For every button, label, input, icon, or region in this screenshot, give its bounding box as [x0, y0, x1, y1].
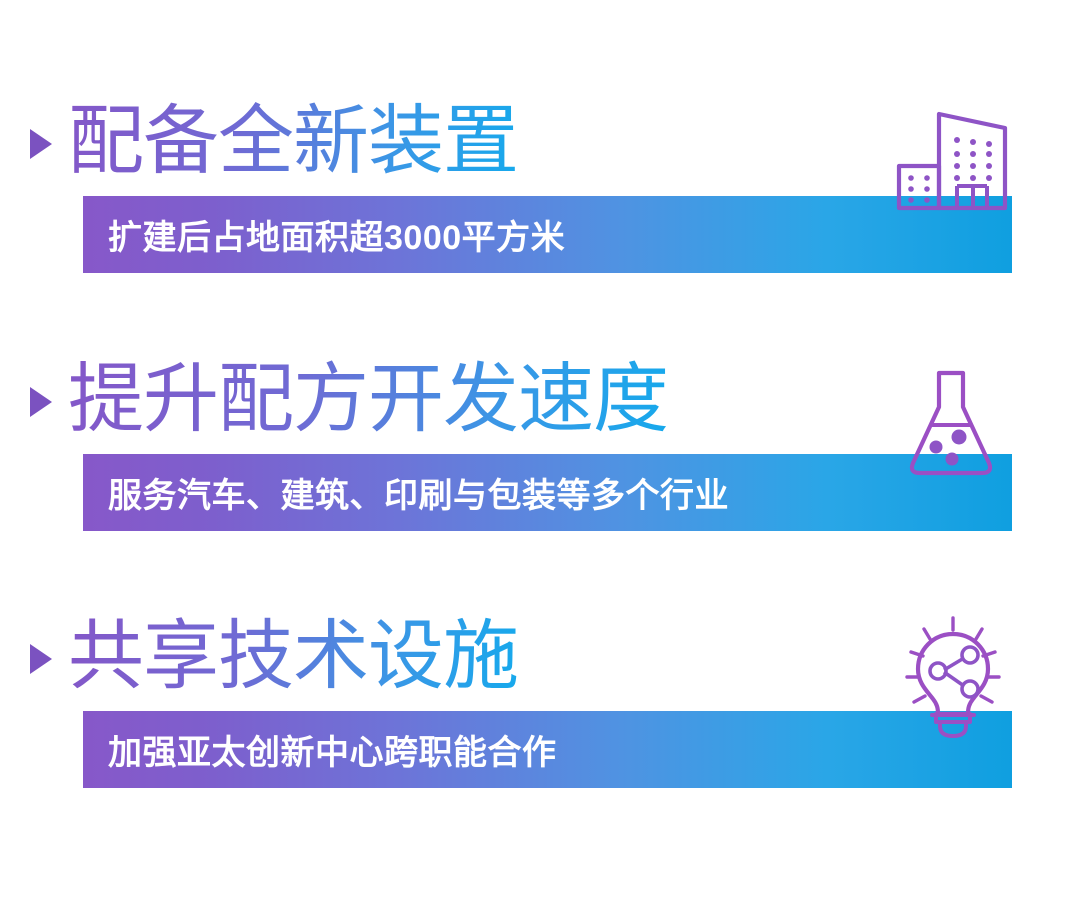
section-3-heading-row: 共享技术设施 [0, 603, 1080, 711]
section-3-heading: 共享技术设施 [68, 607, 518, 707]
section-2-bar: 服务汽车、建筑、印刷与包装等多个行业 [83, 454, 1012, 531]
infographic-slide: 配备全新装置 扩建后占地面积超3000平方米 提升配方开发速度 服务汽车、建筑、… [0, 0, 1080, 909]
section-3-bar: 加强亚太创新中心跨职能合作 [83, 711, 1012, 788]
triangle-right-icon [30, 129, 52, 159]
section-2-heading-row: 提升配方开发速度 [0, 346, 1080, 454]
section-3: 共享技术设施 加强亚太创新中心跨职能合作 [0, 603, 1080, 711]
section-1-bar: 扩建后占地面积超3000平方米 [83, 196, 1012, 273]
section-2: 提升配方开发速度 服务汽车、建筑、印刷与包装等多个行业 [0, 346, 1080, 454]
section-1-heading-row: 配备全新装置 [0, 88, 1080, 196]
triangle-right-icon [30, 387, 52, 417]
section-1-heading: 配备全新装置 [68, 92, 518, 192]
section-2-heading: 提升配方开发速度 [68, 350, 668, 450]
section-1-bar-label: 扩建后占地面积超3000平方米 [108, 196, 565, 273]
section-3-bar-label: 加强亚太创新中心跨职能合作 [108, 711, 557, 788]
section-2-bar-label: 服务汽车、建筑、印刷与包装等多个行业 [108, 454, 729, 531]
section-1: 配备全新装置 扩建后占地面积超3000平方米 [0, 88, 1080, 196]
triangle-right-icon [30, 644, 52, 674]
